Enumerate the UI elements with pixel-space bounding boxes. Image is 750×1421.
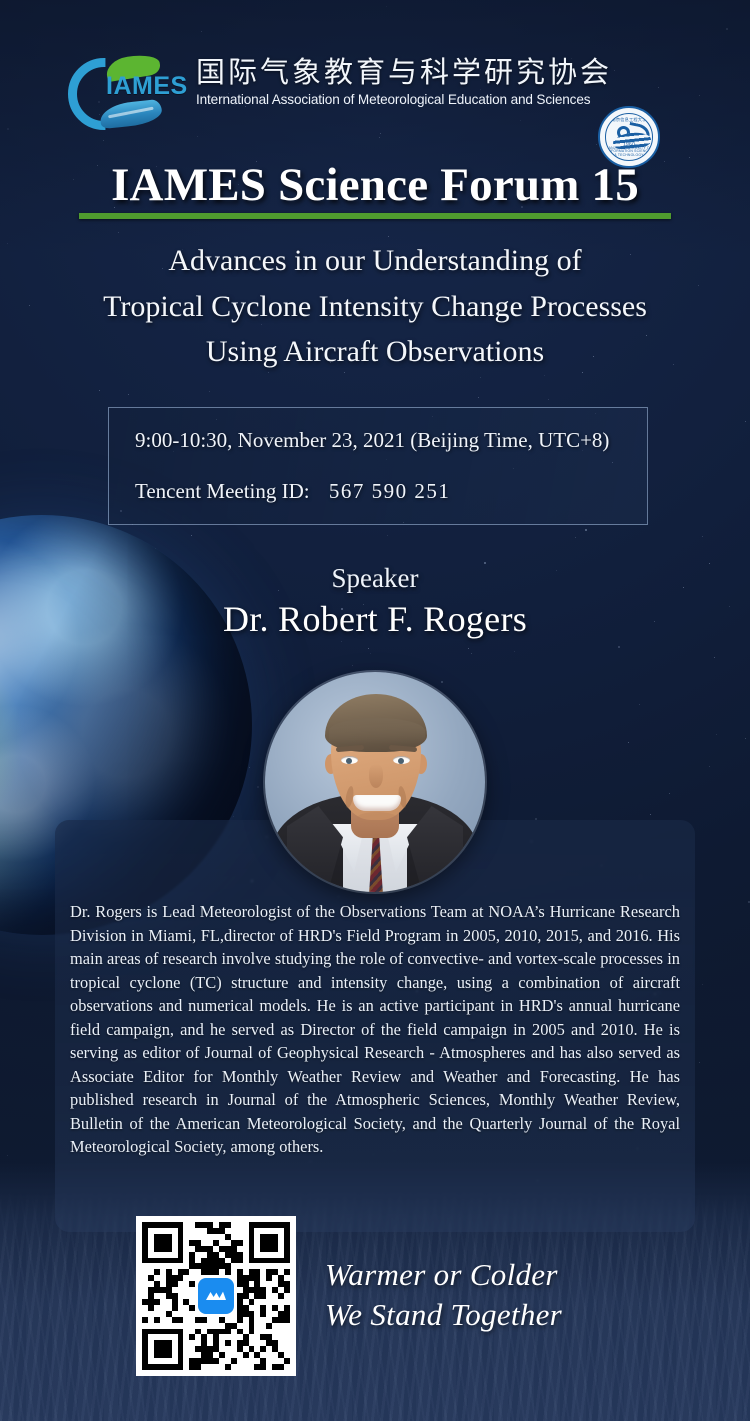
speaker-label: Speaker xyxy=(0,563,750,594)
tencent-meeting-icon xyxy=(198,1278,234,1314)
seal-bottom-text: NANJING UNIVERSITY OF INFORMATION SCIENC… xyxy=(606,147,652,157)
speaker-portrait-photo xyxy=(265,672,485,892)
meeting-id-label: Tencent Meeting ID: xyxy=(135,479,310,503)
poster-root: IAMES 国际气象教育与科学研究协会 International Associ… xyxy=(0,0,750,1421)
iames-logo-text: IAMES xyxy=(106,72,188,101)
subtitle-line-1: Advances in our Understanding of xyxy=(0,238,750,284)
organization-names: 国际气象教育与科学研究协会 International Association … xyxy=(196,56,576,109)
iames-logo: IAMES xyxy=(66,50,190,136)
speaker-name: Dr. Robert F. Rogers xyxy=(0,598,750,640)
qr-code[interactable] xyxy=(136,1216,296,1376)
event-tagline: Warmer or Colder We Stand Together xyxy=(325,1255,562,1334)
portrait-pupil-right xyxy=(398,758,404,764)
event-info-box: 9:00-10:30, November 23, 2021 (Beijing T… xyxy=(108,407,648,525)
tagline-line-2: We Stand Together xyxy=(325,1295,562,1335)
seal-inner-ring: 南京信息工程大学 1960 NANJING UNIVERSITY OF INFO… xyxy=(605,113,653,161)
portrait-mouth xyxy=(353,795,401,811)
meeting-id-row: Tencent Meeting ID: 567 590 251 xyxy=(135,481,647,502)
portrait-hair xyxy=(325,694,427,752)
org-name-chinese: 国际气象教育与科学研究协会 xyxy=(196,56,576,89)
subtitle-line-3: Using Aircraft Observations xyxy=(0,329,750,375)
title-underline-accent xyxy=(79,213,671,219)
meeting-id-value: 567 590 251 xyxy=(329,479,451,503)
page-title: IAMES Science Forum 15 xyxy=(0,160,750,211)
portrait-nose xyxy=(369,764,383,788)
portrait-chin xyxy=(357,812,397,824)
title-block: IAMES Science Forum 15 xyxy=(0,160,750,219)
subtitle-line-2: Tropical Cyclone Intensity Change Proces… xyxy=(0,284,750,330)
speaker-bio-text: Dr. Rogers is Lead Meteorologist of the … xyxy=(70,900,680,1159)
poster-header: IAMES 国际气象教育与科学研究协会 International Associ… xyxy=(0,48,750,140)
iames-wave-leaf-icon xyxy=(99,99,163,129)
forum-subtitle: Advances in our Understanding of Tropica… xyxy=(0,238,750,375)
event-datetime: 9:00-10:30, November 23, 2021 (Beijing T… xyxy=(135,430,647,451)
tagline-line-1: Warmer or Colder xyxy=(325,1255,562,1295)
portrait-pupil-left xyxy=(346,758,352,764)
org-name-english: International Association of Meteorologi… xyxy=(196,92,576,108)
